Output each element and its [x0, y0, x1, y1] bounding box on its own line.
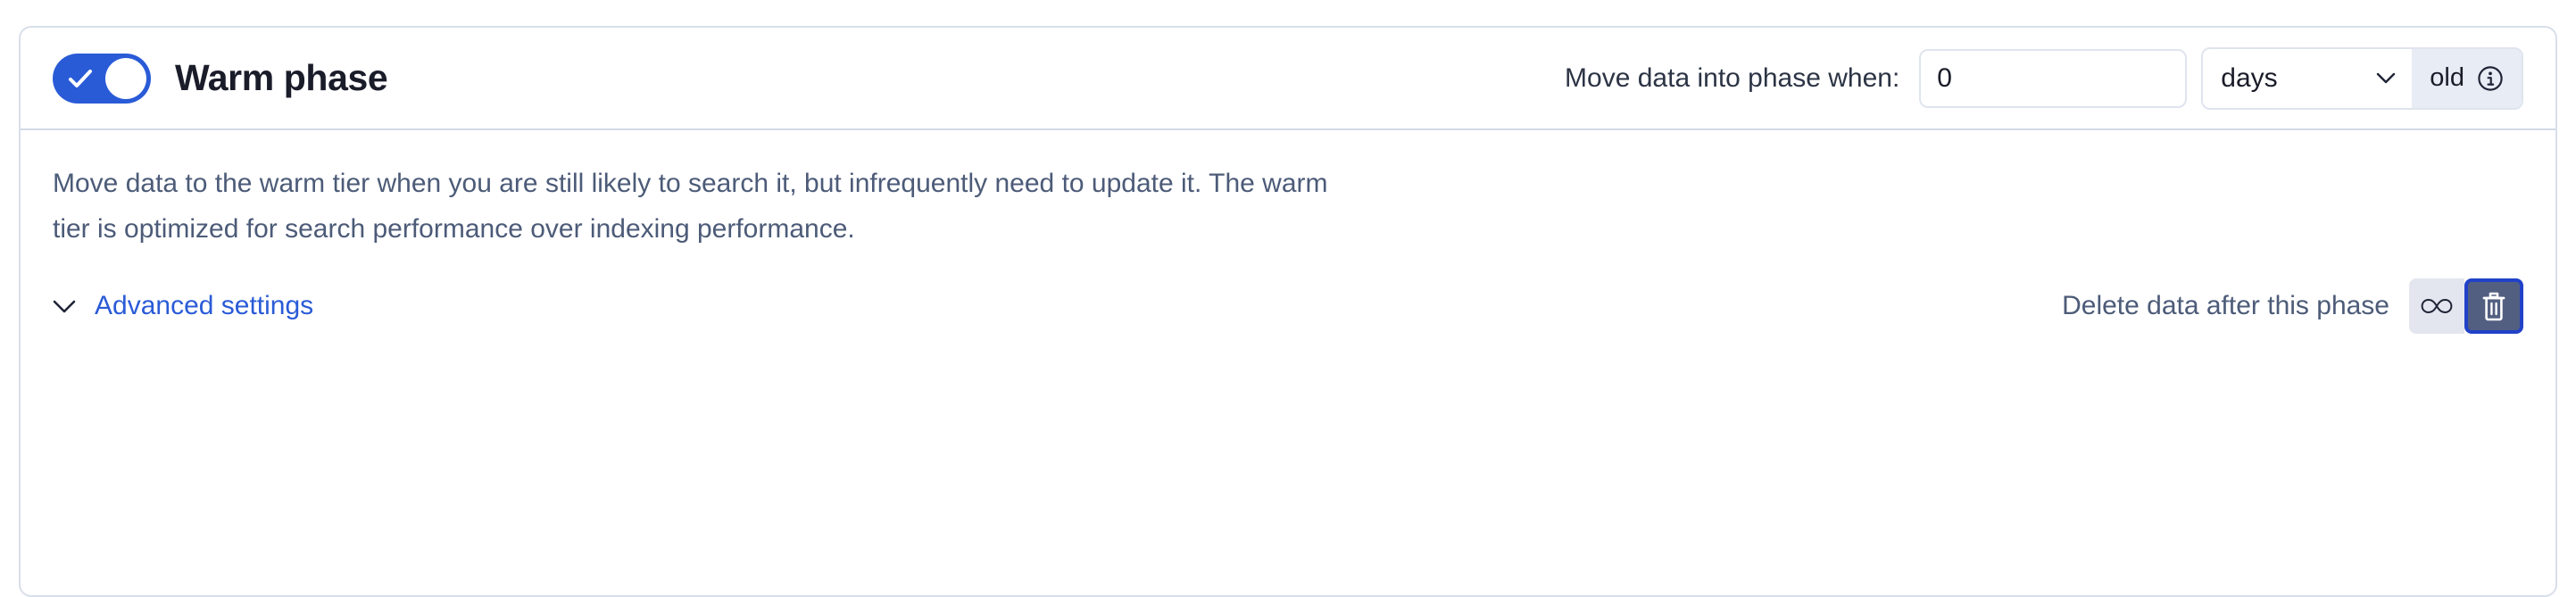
- toggle-knob: [105, 58, 146, 99]
- old-label: old: [2430, 63, 2464, 93]
- chevron-down-icon: [53, 300, 76, 313]
- keep-forever-button[interactable]: [2409, 278, 2464, 334]
- phase-description: Move data to the warm tier when you are …: [53, 161, 1329, 252]
- min-age-input[interactable]: [1919, 49, 2187, 108]
- unit-group: days old: [2201, 47, 2523, 110]
- infinity-icon: [2420, 297, 2454, 315]
- unit-suffix: old: [2412, 49, 2522, 108]
- warm-phase-toggle[interactable]: [53, 54, 151, 104]
- trash-icon: [2481, 291, 2506, 321]
- phase-footer: Advanced settings Delete data after this…: [53, 278, 2523, 334]
- delete-data-button[interactable]: [2464, 278, 2523, 334]
- page-title: Warm phase: [175, 57, 387, 99]
- time-unit-select[interactable]: days: [2203, 49, 2412, 108]
- time-unit-value: days: [2221, 63, 2277, 94]
- warm-phase-panel: Warm phase Move data into phase when: da…: [19, 26, 2557, 597]
- chevron-down-icon: [2376, 72, 2396, 84]
- advanced-settings-label: Advanced settings: [95, 291, 313, 321]
- phase-header: Warm phase Move data into phase when: da…: [21, 28, 2555, 130]
- delete-option-group: [2409, 278, 2523, 334]
- delete-data-label: Delete data after this phase: [2062, 291, 2389, 321]
- delete-data-control: Delete data after this phase: [2062, 278, 2523, 334]
- move-data-label: Move data into phase when:: [1565, 63, 1899, 94]
- phase-timing-controls: Move data into phase when: days old: [1565, 47, 2523, 110]
- info-circle-icon[interactable]: [2477, 65, 2504, 92]
- phase-body: Move data to the warm tier when you are …: [21, 130, 2555, 334]
- check-icon: [68, 68, 93, 89]
- advanced-settings-toggle[interactable]: Advanced settings: [53, 291, 313, 321]
